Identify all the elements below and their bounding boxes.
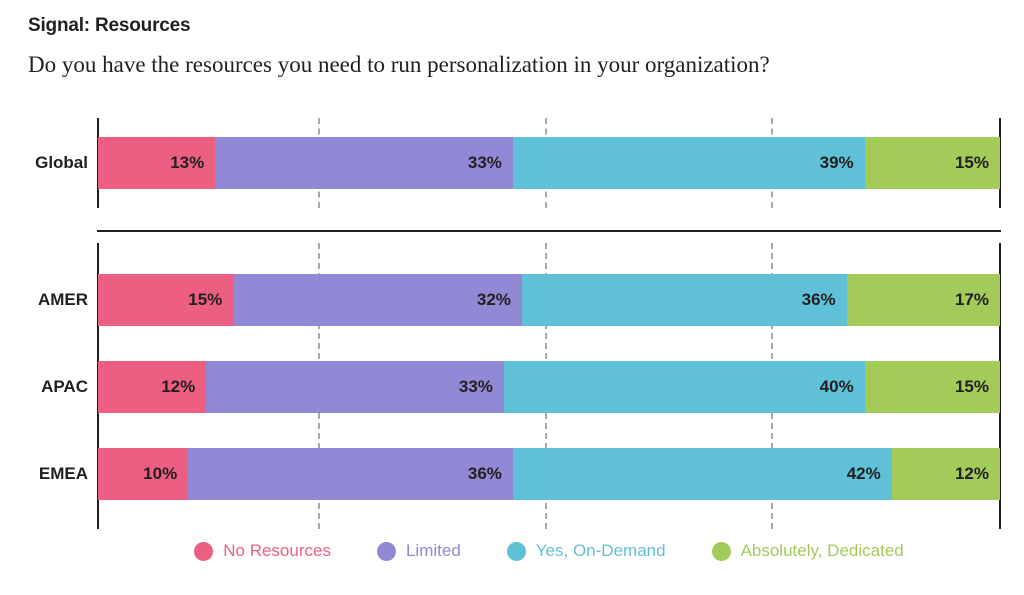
bar-segment-limited[interactable]: 32% — [233, 274, 522, 326]
bar-segment-value: 36% — [802, 290, 847, 310]
bar-segment-no-resources[interactable]: 13% — [98, 137, 215, 189]
bar-segment-value: 17% — [955, 290, 1000, 310]
bar-segment-value: 32% — [477, 290, 522, 310]
chart-plot-area: Global 13% 33% 39% 15% AMER 15% 32% — [0, 0, 1024, 595]
bar-segment-absolutely-dedicated[interactable]: 15% — [865, 137, 1000, 189]
bar-segment-value: 13% — [170, 153, 215, 173]
legend-label: Yes, On-Demand — [536, 541, 666, 561]
bar-segment-absolutely-dedicated[interactable]: 12% — [892, 448, 1000, 500]
bar-segment-value: 10% — [143, 464, 188, 484]
bar-track-amer: 15% 32% 36% 17% — [98, 274, 1000, 326]
bar-segment-absolutely-dedicated[interactable]: 15% — [865, 361, 1000, 413]
bar-segment-limited[interactable]: 33% — [215, 137, 513, 189]
row-label-emea: EMEA — [0, 448, 88, 500]
legend-item-absolutely-dedicated[interactable]: Absolutely, Dedicated — [712, 541, 904, 561]
bar-row-apac: APAC 12% 33% 40% 15% — [0, 361, 1024, 413]
bar-segment-yes-on-demand[interactable]: 40% — [504, 361, 865, 413]
bar-segment-value: 15% — [188, 290, 233, 310]
bar-segment-no-resources[interactable]: 12% — [98, 361, 206, 413]
legend-dot-icon — [507, 542, 526, 561]
bar-segment-value: 40% — [820, 377, 865, 397]
chart-legend: No Resources Limited Yes, On-Demand Abso… — [98, 541, 1000, 561]
bar-segment-value: 36% — [468, 464, 513, 484]
bar-segment-value: 33% — [459, 377, 504, 397]
bar-segment-limited[interactable]: 36% — [188, 448, 513, 500]
bar-segment-no-resources[interactable]: 15% — [98, 274, 233, 326]
legend-item-yes-on-demand[interactable]: Yes, On-Demand — [507, 541, 666, 561]
bar-segment-limited[interactable]: 33% — [206, 361, 504, 413]
bar-segment-yes-on-demand[interactable]: 39% — [513, 137, 865, 189]
bar-segment-value: 12% — [161, 377, 206, 397]
bar-segment-yes-on-demand[interactable]: 42% — [513, 448, 892, 500]
bar-track-global: 13% 33% 39% 15% — [98, 137, 1000, 189]
bar-segment-yes-on-demand[interactable]: 36% — [522, 274, 847, 326]
bar-row-global: Global 13% 33% 39% 15% — [0, 137, 1024, 189]
bar-segment-no-resources[interactable]: 10% — [98, 448, 188, 500]
bar-segment-value: 15% — [955, 153, 1000, 173]
legend-dot-icon — [712, 542, 731, 561]
legend-dot-icon — [194, 542, 213, 561]
bar-segment-value: 33% — [468, 153, 513, 173]
legend-label: No Resources — [223, 541, 331, 561]
bar-segment-absolutely-dedicated[interactable]: 17% — [847, 274, 1000, 326]
legend-item-limited[interactable]: Limited — [377, 541, 461, 561]
row-label-amer: AMER — [0, 274, 88, 326]
bar-segment-value: 39% — [820, 153, 865, 173]
legend-label: Limited — [406, 541, 461, 561]
group-divider — [97, 230, 1001, 232]
bar-track-apac: 12% 33% 40% 15% — [98, 361, 1000, 413]
bar-row-emea: EMEA 10% 36% 42% 12% — [0, 448, 1024, 500]
bar-segment-value: 42% — [847, 464, 892, 484]
legend-label: Absolutely, Dedicated — [741, 541, 904, 561]
row-label-global: Global — [0, 137, 88, 189]
row-label-apac: APAC — [0, 361, 88, 413]
legend-dot-icon — [377, 542, 396, 561]
bar-segment-value: 15% — [955, 377, 1000, 397]
bar-track-emea: 10% 36% 42% 12% — [98, 448, 1000, 500]
bar-row-amer: AMER 15% 32% 36% 17% — [0, 274, 1024, 326]
bar-segment-value: 12% — [955, 464, 1000, 484]
legend-item-no-resources[interactable]: No Resources — [194, 541, 331, 561]
